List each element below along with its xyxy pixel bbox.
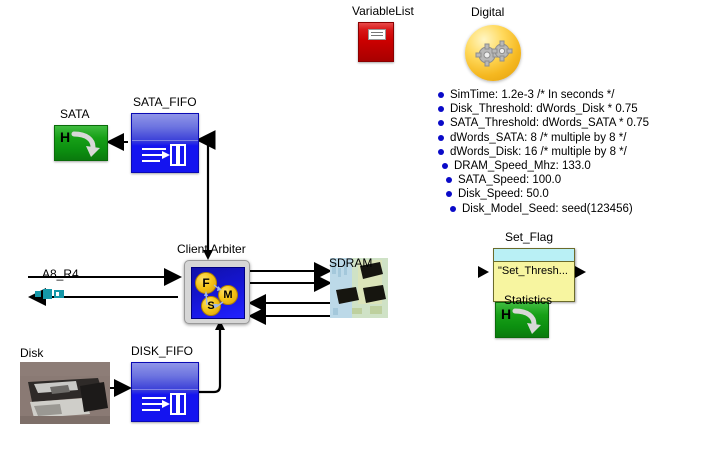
list-item: dWords_Disk: 16 /* multiple by 8 */ xyxy=(438,145,649,159)
h-letter-icon: H xyxy=(501,306,511,322)
node-sata[interactable]: H xyxy=(54,125,108,161)
list-item: SATA_Threshold: dWords_SATA * 0.75 xyxy=(438,116,649,130)
node-disk[interactable] xyxy=(20,362,110,424)
set-flag-header xyxy=(494,249,574,262)
bullet-icon xyxy=(442,163,448,169)
node-label-a8-r4: A8_R4 xyxy=(42,268,79,281)
node-sata-fifo[interactable] xyxy=(131,113,199,173)
node-client-arbiter[interactable]: F M S xyxy=(184,260,250,324)
state-machine-icon: F M S xyxy=(191,267,245,319)
fifo-icon xyxy=(140,144,190,168)
node-a8-r4[interactable] xyxy=(35,288,65,306)
teal-port-icon xyxy=(35,289,65,301)
list-item: Disk_Speed: 50.0 xyxy=(438,187,649,201)
node-digital[interactable] xyxy=(465,25,521,81)
list-item: SimTime: 1.2e-3 /* In seconds */ xyxy=(438,88,649,102)
hard-disk-photo xyxy=(20,362,110,424)
bullet-icon xyxy=(446,177,452,183)
node-label-sata-fifo: SATA_FIFO xyxy=(133,96,197,109)
node-label-client-arbiter: Client Arbiter xyxy=(177,243,246,256)
node-label-digital: Digital xyxy=(471,6,504,19)
list-item: Disk_Threshold: dWords_Disk * 0.75 xyxy=(438,102,649,116)
state-transitions-icon xyxy=(192,268,244,318)
set-flag-output-arrow xyxy=(575,265,595,281)
curved-arrow-icon xyxy=(71,130,101,158)
bullet-icon xyxy=(450,206,456,212)
fifo-icon xyxy=(140,393,190,417)
red-list-icon xyxy=(358,22,394,62)
bullet-icon xyxy=(438,120,444,126)
node-label-sata: SATA xyxy=(60,108,90,121)
list-lines-icon xyxy=(368,29,386,40)
list-item: dWords_SATA: 8 /* multiple by 8 */ xyxy=(438,131,649,145)
list-item: DRAM_Speed_Mhz: 133.0 xyxy=(438,159,649,173)
set-flag-input-arrow xyxy=(478,265,518,281)
node-label-sdram: SDRAM xyxy=(329,257,372,270)
node-label-variable-list: VariableList xyxy=(352,5,414,18)
node-label-disk: Disk xyxy=(20,347,43,360)
parameter-list: SimTime: 1.2e-3 /* In seconds */ Disk_Th… xyxy=(438,88,649,216)
node-label-disk-fifo: DISK_FIFO xyxy=(131,345,193,358)
node-label-statistics: Statistics xyxy=(504,294,552,307)
node-statistics[interactable]: H xyxy=(495,302,549,338)
list-item: SATA_Speed: 100.0 xyxy=(438,173,649,187)
gears-icon xyxy=(465,25,521,81)
curved-arrow-icon xyxy=(512,307,542,335)
bullet-icon xyxy=(438,135,444,141)
bullet-icon xyxy=(438,92,444,98)
node-disk-fifo[interactable] xyxy=(131,362,199,422)
node-label-set-flag: Set_Flag xyxy=(505,231,553,244)
bullet-icon xyxy=(446,191,452,197)
bullet-icon xyxy=(438,106,444,112)
list-item: Disk_Model_Seed: seed(123456) xyxy=(438,202,649,216)
h-letter-icon: H xyxy=(60,129,70,145)
bullet-icon xyxy=(438,149,444,155)
diagram-canvas: VariableList Digital SimTime: 1.2e-3 /* … xyxy=(0,0,708,472)
